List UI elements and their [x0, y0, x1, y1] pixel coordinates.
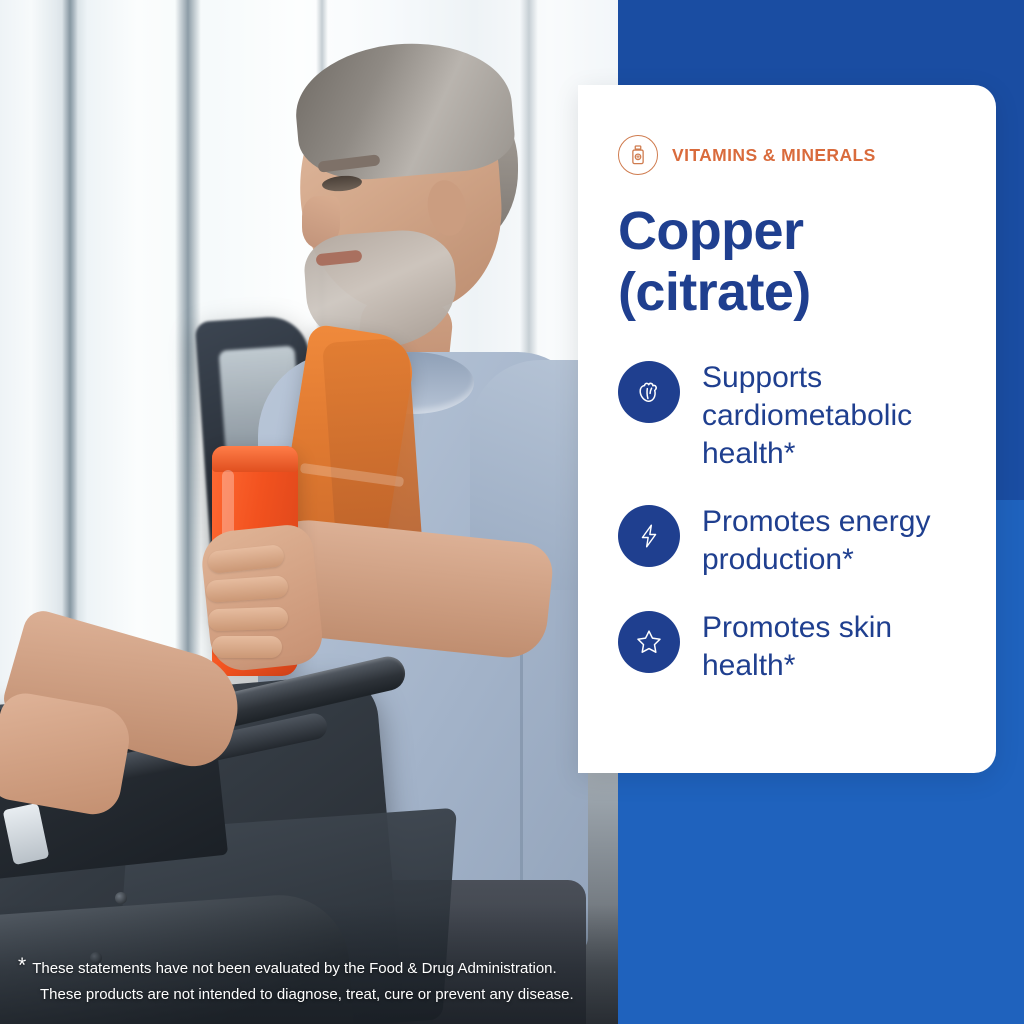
star-icon	[618, 611, 680, 673]
benefit-item: Promotes energy production*	[618, 501, 970, 579]
category-label: VITAMINS & MINERALS	[672, 145, 876, 166]
title-line-1: Copper	[618, 201, 970, 262]
lightning-bolt-icon	[618, 505, 680, 567]
benefit-item: Supports cardiometabolic health*	[618, 357, 970, 473]
product-benefit-card: VITAMINS & MINERALS Copper (citrate)	[0, 0, 1024, 1024]
footnote-disclaimer: *These statements have not been evaluate…	[18, 956, 618, 1008]
benefit-text: Promotes skin health*	[702, 607, 970, 685]
benefit-item: Promotes skin health*	[618, 607, 970, 685]
footnote-line-1: These statements have not been evaluated…	[32, 960, 556, 977]
info-card: VITAMINS & MINERALS Copper (citrate)	[578, 85, 996, 773]
footnote-line-2: These products are not intended to diagn…	[40, 982, 618, 1008]
finger	[212, 636, 282, 658]
page-title: Copper (citrate)	[618, 201, 970, 323]
category-row: VITAMINS & MINERALS	[618, 135, 970, 175]
supplement-bottle-icon	[618, 135, 658, 175]
benefit-text: Promotes energy production*	[702, 501, 970, 579]
treadmill-bolt	[115, 892, 127, 904]
title-line-2: (citrate)	[618, 262, 970, 323]
benefits-list: Supports cardiometabolic health* Promote…	[618, 357, 970, 685]
benefit-text: Supports cardiometabolic health*	[702, 357, 970, 473]
heart-icon	[618, 361, 680, 423]
hero-photo	[0, 0, 624, 1024]
footnote-asterisk: *	[18, 954, 26, 977]
bottle-cap	[212, 446, 298, 472]
finger	[208, 607, 289, 632]
